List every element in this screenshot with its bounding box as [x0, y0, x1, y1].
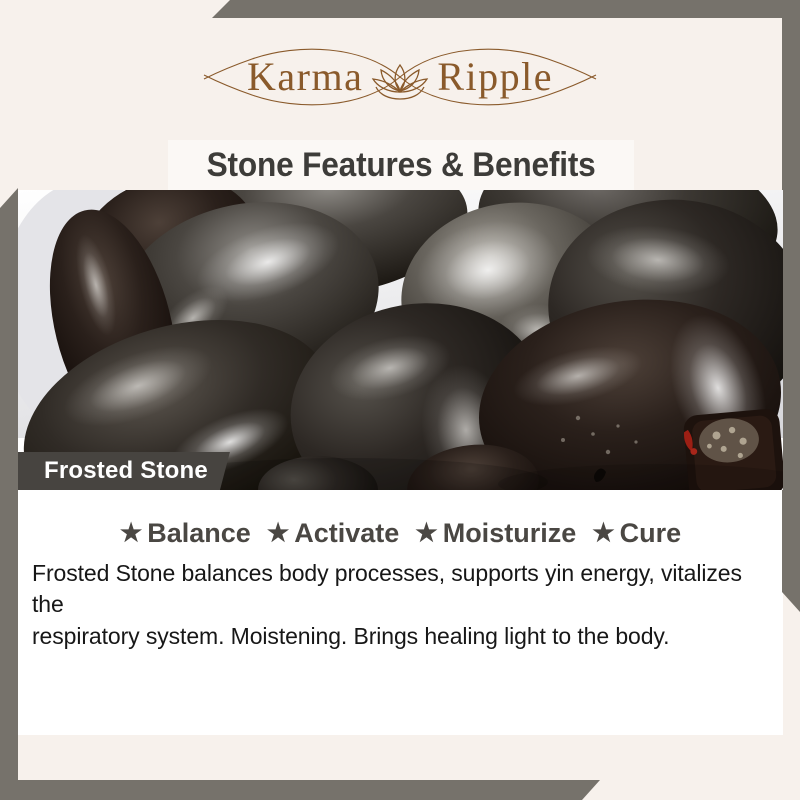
stone-photo-image [18, 190, 783, 490]
promo-card: Karma Ripple Stone Features & Benefits [0, 0, 800, 800]
description-line-2: respiratory system. Moistening. Brings h… [32, 621, 774, 652]
brand-logo: Karma Ripple [190, 37, 610, 117]
brand-name-right: Ripple [437, 57, 553, 97]
benefit-label: Moisturize [443, 518, 577, 549]
star-icon: ★ [267, 521, 289, 546]
title-banner: Stone Features & Benefits [168, 140, 634, 190]
frame-accent-left [0, 188, 18, 800]
benefit-label: Cure [620, 518, 682, 549]
stone-photo [18, 190, 783, 490]
star-icon: ★ [415, 521, 437, 546]
benefit-label: Balance [147, 518, 251, 549]
stone-name-badge: Frosted Stone [18, 452, 230, 490]
description-line-1: Frosted Stone balances body processes, s… [32, 558, 774, 621]
star-icon: ★ [120, 521, 142, 546]
benefit-item-cure: ★ Cure [592, 518, 681, 549]
benefit-item-activate: ★ Activate [267, 518, 399, 549]
page-title: Stone Features & Benefits [207, 146, 596, 185]
benefits-row: ★ Balance ★ Activate ★ Moisturize ★ Cure [18, 518, 783, 549]
benefit-label: Activate [294, 518, 399, 549]
benefit-item-balance: ★ Balance [120, 518, 251, 549]
star-icon: ★ [592, 521, 614, 546]
stone-description: Frosted Stone balances body processes, s… [32, 558, 774, 652]
benefit-item-moisturize: ★ Moisturize [415, 518, 576, 549]
brand-header: Karma Ripple [0, 18, 800, 136]
brand-name-left: Karma [247, 57, 363, 97]
